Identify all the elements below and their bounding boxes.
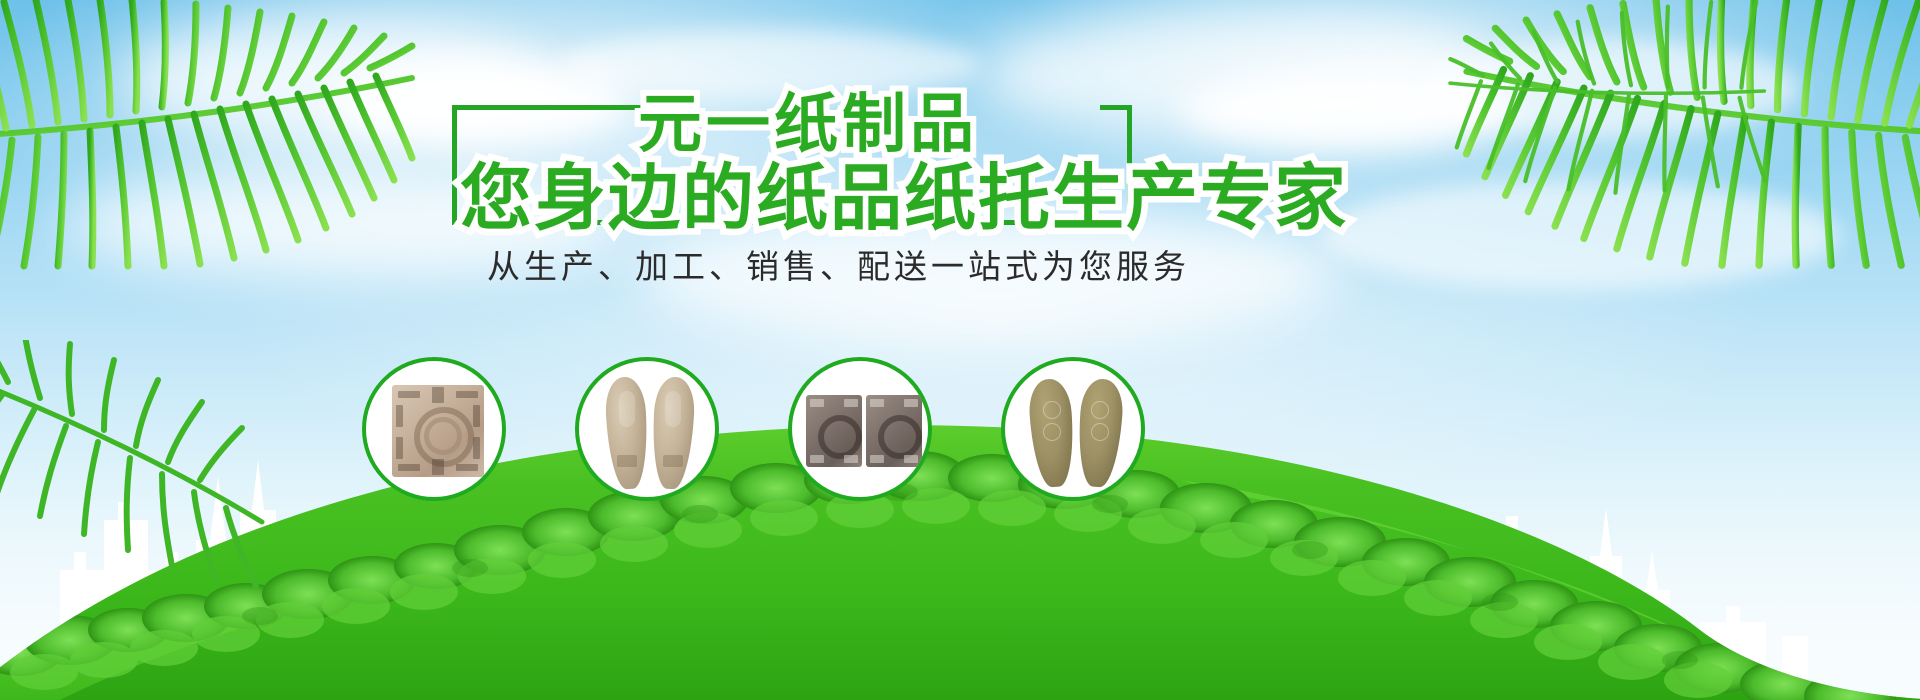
brand-slogan: 您身边的纸品纸托生产专家 — [460, 139, 1348, 244]
product-thumb-dual-pulp-tray — [792, 361, 928, 497]
frame-border-top-left — [452, 105, 658, 110]
service-tagline: 从生产、加工、销售、配送一站式为您服务 — [487, 240, 1190, 288]
frame-border-left — [452, 105, 457, 225]
product-thumb-square-pulp-tray — [366, 361, 502, 497]
product-circle-3[interactable] — [788, 357, 932, 501]
product-circle-4[interactable] — [1001, 357, 1145, 501]
product-thumb-pulp-insole-pair — [579, 361, 715, 497]
product-circle-1[interactable] — [362, 357, 506, 501]
headline-frame: 元一纸制品 您身边的纸品纸托生产专家 — [452, 105, 1132, 225]
promo-banner: 元一纸制品 您身边的纸品纸托生产专家 从生产、加工、销售、配送一站式为您服务 — [0, 0, 1920, 700]
product-thumb-pulp-shoe-last-pair — [1005, 361, 1141, 497]
product-circle-2[interactable] — [575, 357, 719, 501]
